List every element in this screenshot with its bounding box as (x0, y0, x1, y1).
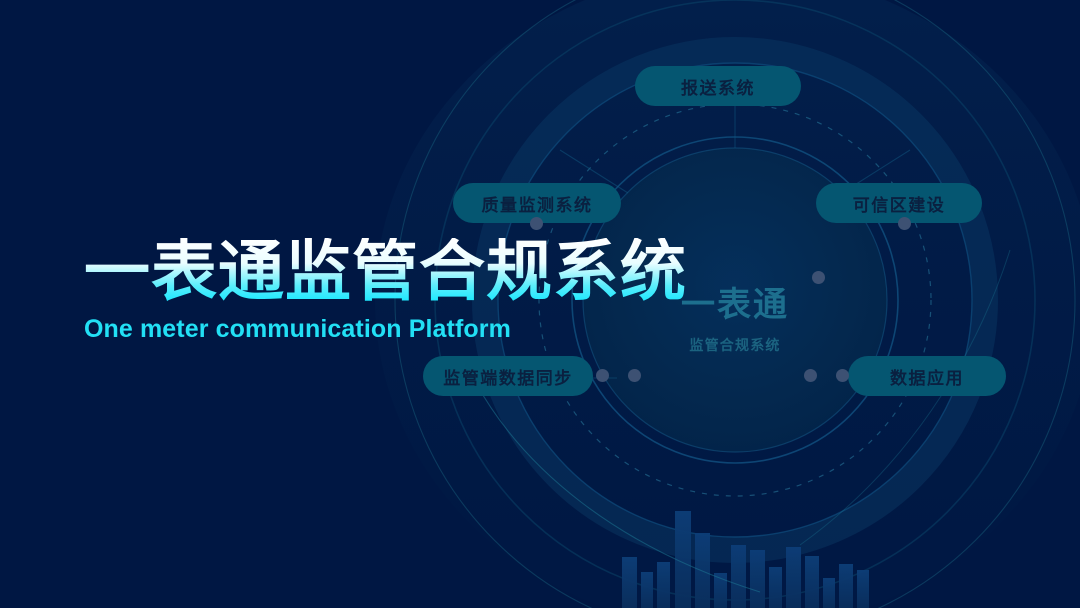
page-subtitle: One meter communication Platform (84, 315, 704, 344)
node-report-label: 报送系统 (681, 74, 755, 99)
node-trust[interactable]: 可信区建设 (816, 183, 982, 223)
connector-dot-data-outer (804, 369, 817, 382)
slide-canvas: 一表通监管合规系统 One meter communication Platfo… (0, 0, 1080, 608)
connector-dot-trust (898, 217, 911, 230)
connector-dot-ring-right (812, 271, 825, 284)
node-data[interactable]: 数据应用 (848, 356, 1006, 396)
connector-dot-data-inner (836, 369, 849, 382)
connector-dot-quality (530, 217, 543, 230)
node-quality-label: 质量监测系统 (482, 191, 593, 216)
node-data-label: 数据应用 (890, 364, 964, 389)
connector-dot-sync-outer (628, 369, 641, 382)
node-sync-label: 监管端数据同步 (443, 364, 573, 389)
node-report[interactable]: 报送系统 (635, 66, 801, 106)
node-trust-label: 可信区建设 (853, 191, 946, 216)
page-title: 一表通监管合规系统 (84, 238, 704, 304)
headline-block: 一表通监管合规系统 One meter communication Platfo… (84, 238, 704, 344)
connector-dot-sync-inner (596, 369, 609, 382)
node-sync[interactable]: 监管端数据同步 (423, 356, 593, 396)
